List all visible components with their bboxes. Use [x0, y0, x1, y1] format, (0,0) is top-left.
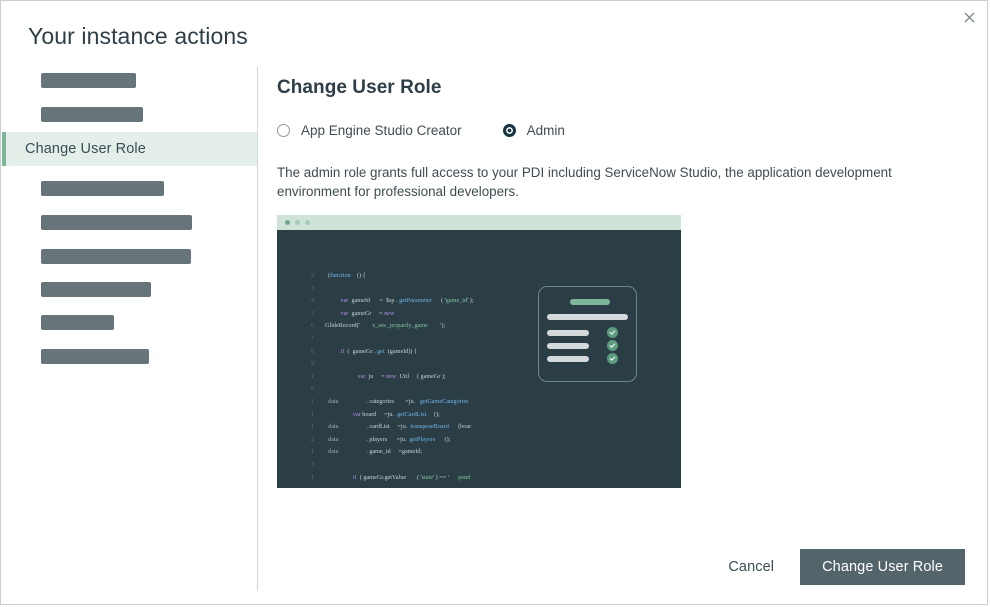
sidebar-item-placeholder[interactable] — [2, 175, 257, 201]
sidebar-item-placeholder[interactable] — [2, 67, 257, 93]
line-number: 2 — [311, 436, 325, 443]
radio-option-app-engine-studio-creator[interactable]: App Engine Studio Creator — [277, 123, 462, 138]
line-number: 1 — [311, 474, 325, 481]
code-line: 1 if ( gameGr.getValue ( 'state' ) == ' … — [311, 474, 641, 487]
radio-icon[interactable] — [277, 124, 290, 137]
placeholder-bar — [41, 215, 192, 230]
code-line: 1 data . cardList =ju. transposeBoard (b… — [311, 423, 641, 436]
code-text: data . cardList =ju. transposeBoard (boa… — [325, 423, 471, 430]
overlay-accent-pill — [570, 299, 610, 305]
light-dot-icon — [295, 220, 300, 225]
sidebar-item-change-user-role[interactable]: Change User Role — [2, 132, 257, 166]
line-number: 1 — [311, 373, 325, 380]
line-number: 1 — [311, 423, 325, 430]
green-dot-icon — [285, 220, 290, 225]
active-accent-bar — [2, 132, 6, 166]
overlay-row-bar — [547, 330, 589, 336]
line-number: 8 — [311, 348, 325, 355]
line-number: 4 — [311, 297, 325, 304]
code-text: (function () { — [325, 272, 366, 279]
radio-label: App Engine Studio Creator — [301, 123, 462, 138]
section-title: Change User Role — [277, 77, 937, 99]
code-text: var gameId = $sp . getParameter ( 'game_… — [325, 297, 474, 304]
line-number: 3 — [311, 461, 325, 468]
line-number: 1 — [311, 448, 325, 455]
line-number: 7 — [311, 335, 325, 342]
placeholder-bar — [41, 349, 149, 364]
check-icon — [607, 327, 618, 338]
check-icon — [607, 340, 618, 351]
placeholder-bar — [41, 315, 114, 330]
code-line: 2 (function () { — [311, 272, 641, 285]
line-number: 1 — [311, 398, 325, 405]
code-illustration: 2 (function () {34 var gameId = $sp . ge… — [277, 215, 681, 488]
sidebar-item-placeholder[interactable] — [2, 343, 257, 369]
overlay-row-bar — [547, 356, 589, 362]
sidebar: Change User Role — [2, 67, 257, 591]
placeholder-bar — [41, 249, 191, 264]
code-text: var ju = new Util ( gameGr ); — [325, 373, 446, 380]
code-line: 0 — [311, 385, 641, 398]
sidebar-item-label: Change User Role — [25, 141, 146, 157]
page-title: Your instance actions — [28, 23, 248, 50]
line-number: 5 — [311, 310, 325, 317]
code-line: 1 var board =ju. getCardList (); — [311, 411, 641, 424]
overlay-row-bar — [547, 343, 589, 349]
line-number: 6 — [311, 322, 325, 329]
code-window-titlebar — [277, 215, 681, 230]
close-icon[interactable] — [958, 6, 980, 28]
code-line: 1 data . game_id =gameId; — [311, 448, 641, 461]
placeholder-bar — [41, 107, 143, 122]
code-window-body: 2 (function () {34 var gameId = $sp . ge… — [277, 230, 681, 488]
overlay-preview-card — [538, 286, 637, 382]
line-number: 2 — [311, 272, 325, 279]
line-number: 1 — [311, 411, 325, 418]
change-user-role-button[interactable]: Change User Role — [800, 549, 965, 585]
role-description: The admin role grants full access to you… — [277, 163, 914, 201]
code-text: if ( gameGr . get (gameId)) { — [325, 348, 417, 355]
line-number: 0 — [311, 385, 325, 392]
overlay-wide-bar — [547, 314, 628, 320]
code-text: data . categories =ju. getGameCategories — [325, 398, 469, 405]
placeholder-bar — [41, 181, 164, 196]
sidebar-item-placeholder[interactable] — [2, 209, 257, 235]
placeholder-bar — [41, 73, 136, 88]
role-radio-group: App Engine Studio Creator Admin — [277, 121, 937, 139]
sidebar-item-placeholder[interactable] — [2, 243, 257, 269]
code-text: if ( gameGr.getValue ( 'state' ) == ' pe… — [325, 474, 470, 481]
code-text: GlideRecord(' x_snc_jeopardy_game '); — [325, 322, 445, 329]
code-line: 3 — [311, 461, 641, 474]
sidebar-item-placeholder[interactable] — [2, 101, 257, 127]
light-dot-icon — [305, 220, 310, 225]
code-text: data . players =ju. getPlayers (); — [325, 436, 450, 443]
dialog-footer: Cancel Change User Role — [1, 530, 987, 604]
check-icon — [607, 353, 618, 364]
radio-label: Admin — [527, 123, 565, 138]
vertical-divider — [257, 67, 258, 591]
sidebar-item-placeholder[interactable] — [2, 276, 257, 302]
instance-actions-dialog: Your instance actions Change User Role C… — [0, 0, 988, 605]
code-text: var board =ju. getCardList (); — [325, 411, 440, 418]
code-line: 2 data . players =ju. getPlayers (); — [311, 436, 641, 449]
code-text: var gameGr = new — [325, 310, 395, 317]
line-number: 9 — [311, 360, 325, 367]
cancel-button[interactable]: Cancel — [714, 551, 788, 583]
radio-option-admin[interactable]: Admin — [503, 123, 565, 138]
radio-icon-selected[interactable] — [503, 124, 516, 137]
code-text: data . game_id =gameId; — [325, 448, 422, 455]
code-line: 1 data . categories =ju. getGameCategori… — [311, 398, 641, 411]
sidebar-item-placeholder[interactable] — [2, 309, 257, 335]
placeholder-bar — [41, 282, 151, 297]
main-panel: Change User Role App Engine Studio Creat… — [277, 77, 937, 201]
line-number: 3 — [311, 285, 325, 292]
